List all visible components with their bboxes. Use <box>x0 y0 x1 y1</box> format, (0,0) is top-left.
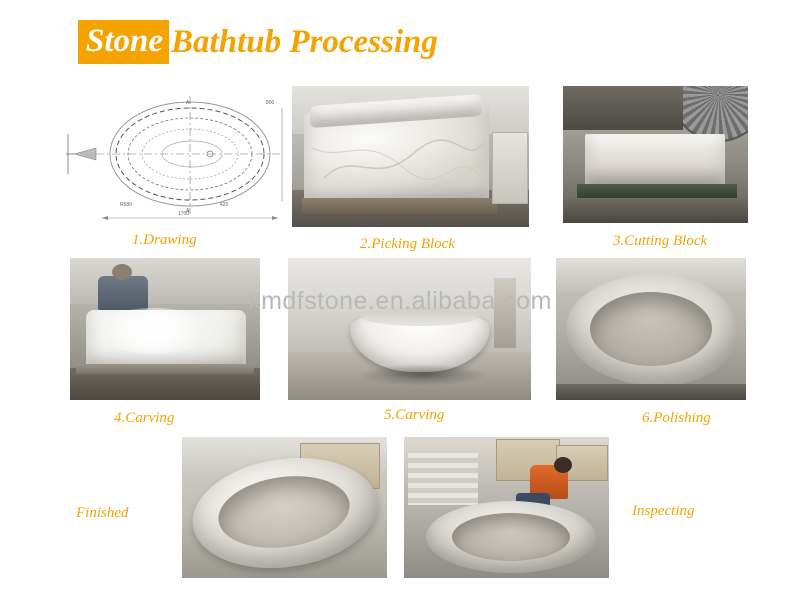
marble-veins <box>304 108 489 206</box>
image-finished-bathtub-photo <box>182 437 387 578</box>
worker-torso <box>98 276 148 310</box>
page-title: Stone Bathtub Processing <box>78 20 438 64</box>
worker-head <box>554 457 572 473</box>
caption-polishing: 6.Polishing <box>642 410 711 427</box>
caption-drawing: 1.Drawing <box>132 232 197 249</box>
stone-dust <box>94 308 214 354</box>
bathtub-rim <box>362 308 478 326</box>
machine-frame <box>563 86 683 130</box>
svg-text:800: 800 <box>266 100 275 106</box>
support-beam <box>76 364 254 374</box>
stacked-slabs <box>408 453 478 505</box>
worker-head <box>112 264 132 280</box>
svg-text:A: A <box>186 208 190 214</box>
image-block-cutting-saw-photo <box>563 86 748 223</box>
bathtub-basin <box>452 513 570 561</box>
image-worker-carving-block-photo <box>70 258 260 400</box>
wooden-pallet <box>302 198 497 214</box>
caption-inspecting: Inspecting <box>632 503 694 520</box>
image-bathtub-polishing-photo <box>556 258 746 400</box>
title-highlight-word: Stone <box>78 20 169 64</box>
svg-text:420: 420 <box>220 202 229 208</box>
ground <box>563 199 748 223</box>
floor <box>556 384 746 400</box>
caption-picking-block: 2.Picking Block <box>360 236 455 253</box>
bathtub-shadow <box>358 364 488 386</box>
technical-drawing-svg: 1700 800 R580 420 A A <box>60 86 290 226</box>
caption-finished: Finished <box>76 505 129 522</box>
caption-carving-2: 5.Carving <box>384 407 444 424</box>
svg-text:R580: R580 <box>120 202 132 208</box>
cutting-table <box>577 184 737 198</box>
image-worker-inspecting-bathtub-photo <box>404 437 609 578</box>
caption-cutting-block: 3.Cutting Block <box>613 233 707 250</box>
svg-text:A: A <box>186 100 190 106</box>
side-slab <box>492 132 528 204</box>
stone-block-on-table <box>585 134 725 186</box>
bathtub-basin <box>590 292 712 366</box>
image-shaped-bathtub-photo <box>288 258 531 400</box>
image-bathtub-technical-drawing: 1700 800 R580 420 A A <box>60 86 290 226</box>
background-object <box>494 278 516 348</box>
caption-carving-1: 4.Carving <box>114 410 174 427</box>
title-rest-text: Bathtub Processing <box>169 23 438 61</box>
image-marble-raw-block-photo <box>292 86 529 227</box>
